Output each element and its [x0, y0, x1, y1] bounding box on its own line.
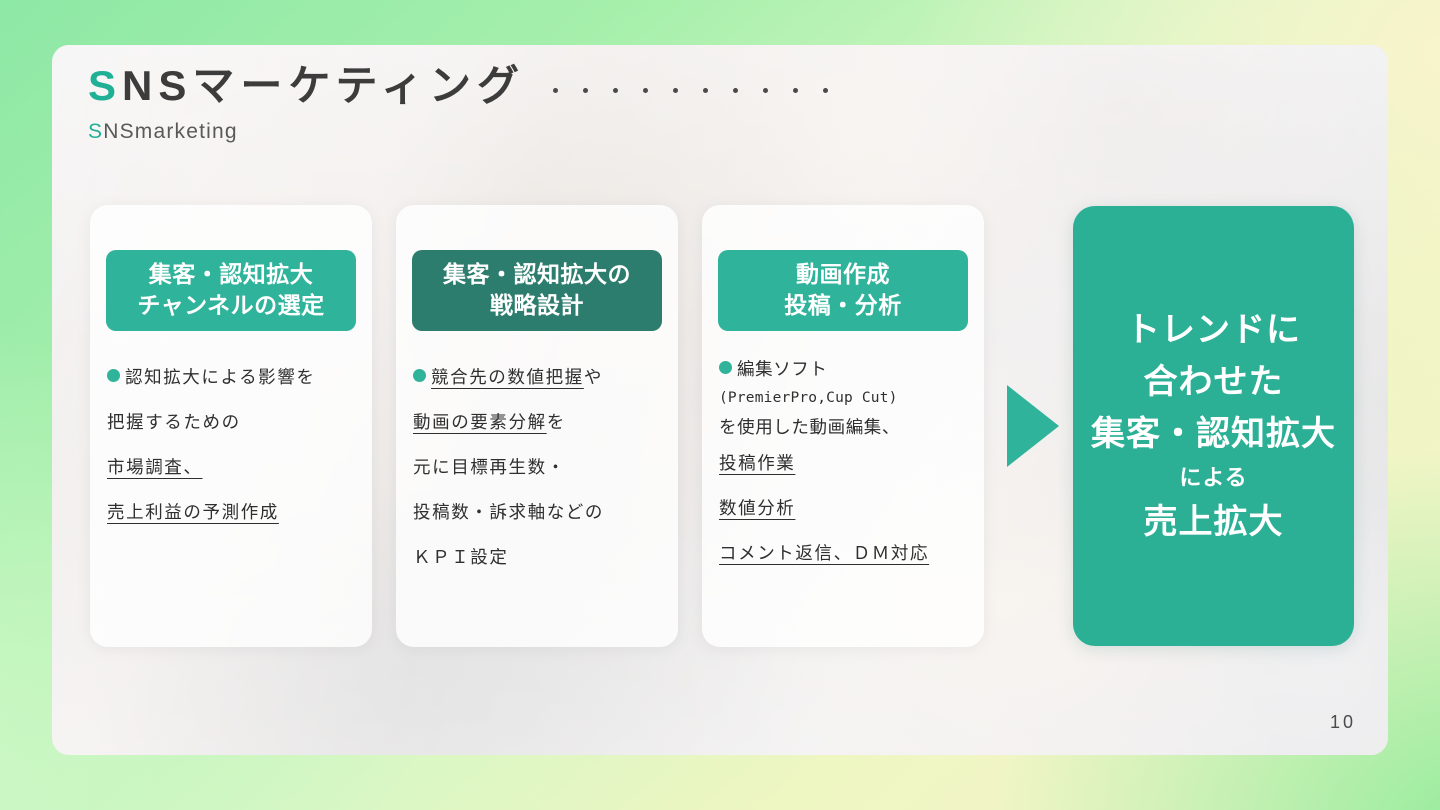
right-arrow-icon: [1007, 385, 1059, 467]
card-body-line: 把握するための: [107, 400, 362, 445]
title-dot: [673, 88, 678, 93]
card-body-text: 市場調査、: [107, 457, 203, 477]
title-rest: NSマーケティング: [122, 62, 525, 109]
page-subtitle: SNSmarketing: [88, 121, 853, 142]
bullet-icon: [107, 369, 120, 382]
title-dot: [613, 88, 618, 93]
card-body-text: 数値分析: [719, 498, 795, 518]
title-dotted-rule: [553, 88, 853, 93]
result-line: 売上拡大: [1144, 496, 1284, 548]
result-line: トレンドに: [1126, 304, 1301, 356]
card-body-3: 編集ソフト(PremierPro,Cup Cut)を使用した動画編集、投稿作業数…: [719, 355, 974, 576]
title-row: SNSマーケティング: [88, 65, 853, 107]
process-card-2[interactable]: 集客・認知拡大の戦略設計競合先の数値把握や動画の要素分解を元に目標再生数・投稿数…: [396, 205, 678, 647]
card-body-2: 競合先の数値把握や動画の要素分解を元に目標再生数・投稿数・訴求軸などのＫＰＩ設定: [413, 355, 668, 580]
page-title: SNSマーケティング: [88, 65, 525, 107]
card-body-line: 投稿作業: [719, 441, 974, 486]
card-body-text: コメント返信、ＤＭ対応: [719, 543, 929, 563]
card-header-3: 動画作成投稿・分析: [718, 250, 968, 331]
process-card-3[interactable]: 動画作成投稿・分析編集ソフト(PremierPro,Cup Cut)を使用した動…: [702, 205, 984, 647]
bullet-icon: [719, 361, 732, 374]
card-body-1: 認知拡大による影響を把握するための市場調査、売上利益の予測作成: [107, 355, 362, 535]
card-body-text: 編集ソフト: [737, 359, 828, 379]
card-header-line: チャンネルの選定: [110, 290, 352, 321]
card-body-line: 市場調査、: [107, 445, 362, 490]
card-header-1: 集客・認知拡大チャンネルの選定: [106, 250, 356, 331]
result-line: 集客・認知拡大: [1091, 408, 1336, 460]
card-header-line: 集客・認知拡大: [110, 259, 352, 290]
card-body-line: 投稿数・訴求軸などの: [413, 490, 668, 535]
card-body-text-plain: を: [547, 412, 566, 432]
card-header-line: 集客・認知拡大の: [416, 259, 658, 290]
title-dot: [823, 88, 828, 93]
title-accent-letter: S: [88, 62, 122, 109]
result-line: 合わせた: [1144, 356, 1284, 408]
card-body-line: コメント返信、ＤＭ対応: [719, 531, 974, 576]
card-body-line: を使用した動画編集、: [719, 413, 974, 441]
card-body-text-underlined: 動画の要素分解: [413, 412, 547, 432]
card-body-line: ＫＰＩ設定: [413, 535, 668, 580]
title-dot: [553, 88, 558, 93]
subtitle-rest: NSmarketing: [103, 120, 238, 143]
card-body-line: 売上利益の予測作成: [107, 490, 362, 535]
page-number: 10: [1330, 712, 1356, 733]
result-panel[interactable]: トレンドに合わせた集客・認知拡大による売上拡大: [1073, 206, 1354, 646]
subtitle-accent-letter: S: [88, 120, 103, 143]
card-body-line: 数値分析: [719, 486, 974, 531]
card-header-2: 集客・認知拡大の戦略設計: [412, 250, 662, 331]
card-header-line: 動画作成: [722, 259, 964, 290]
slide-frame: SNSマーケティング SNSmarketing 集客・認知拡大チャンネルの選定認…: [52, 45, 1388, 755]
card-body-line: 競合先の数値把握や: [413, 355, 668, 400]
title-dot: [703, 88, 708, 93]
card-body-text: 認知拡大による影響を: [125, 367, 315, 387]
title-block: SNSマーケティング SNSmarketing: [88, 65, 853, 142]
slide-page: SNSマーケティング SNSmarketing 集客・認知拡大チャンネルの選定認…: [0, 0, 1440, 810]
title-dot: [733, 88, 738, 93]
title-dot: [583, 88, 588, 93]
card-header-line: 戦略設計: [416, 290, 658, 321]
card-body-text-plain: や: [584, 367, 603, 387]
bullet-icon: [413, 369, 426, 382]
card-header-line: 投稿・分析: [722, 290, 964, 321]
title-dot: [643, 88, 648, 93]
card-body-line: (PremierPro,Cup Cut): [719, 383, 974, 413]
card-body-text: 投稿作業: [719, 453, 795, 473]
card-body-line: 動画の要素分解を: [413, 400, 668, 445]
title-dot: [793, 88, 798, 93]
card-body-line: 元に目標再生数・: [413, 445, 668, 490]
process-card-1[interactable]: 集客・認知拡大チャンネルの選定認知拡大による影響を把握するための市場調査、売上利…: [90, 205, 372, 647]
title-dot: [763, 88, 768, 93]
card-body-text: 売上利益の予測作成: [107, 502, 279, 522]
card-body-text: ＫＰＩ設定: [413, 547, 509, 567]
result-line: による: [1179, 460, 1247, 496]
card-body-line: 認知拡大による影響を: [107, 355, 362, 400]
card-body-text: 把握するための: [107, 412, 241, 432]
card-body-line: 編集ソフト: [719, 355, 974, 383]
card-body-text: (PremierPro,Cup Cut): [719, 390, 898, 406]
card-body-text: を使用した動画編集、: [719, 417, 900, 437]
card-body-text: 投稿数・訴求軸などの: [413, 502, 604, 522]
card-body-text-underlined: 競合先の数値把握: [431, 367, 584, 387]
card-body-text: 元に目標再生数・: [413, 457, 566, 477]
